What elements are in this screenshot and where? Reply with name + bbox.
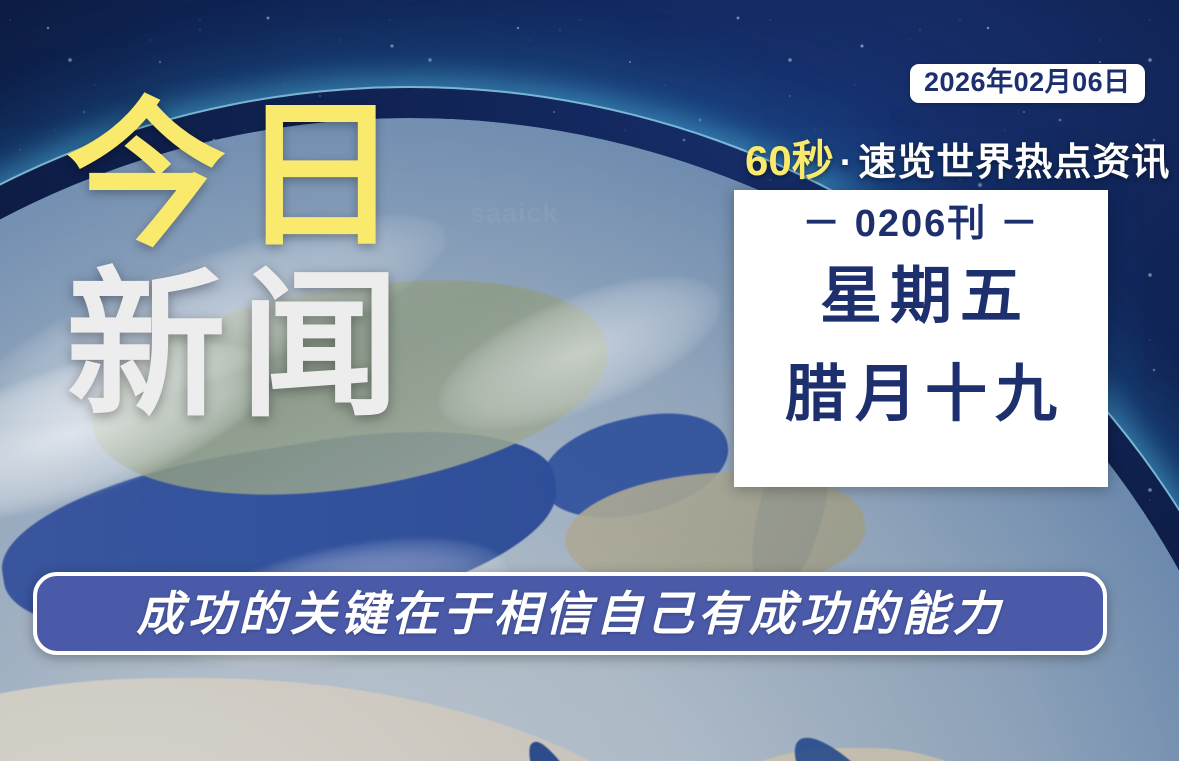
news-poster: saaick 2026年02月06日 今日 新闻 60秒·速览世界热点资讯 － … <box>0 0 1179 761</box>
quote-text: 成功的关键在于相信自己有成功的能力 <box>137 590 1004 637</box>
quote-banner: 成功的关键在于相信自己有成功的能力 <box>33 572 1107 655</box>
info-card: － 0206刊 － 星期五 腊月十九 <box>734 190 1108 487</box>
tagline-seconds: 60秒 <box>745 137 834 184</box>
page-title: 今日 新闻 <box>66 100 414 422</box>
tagline-subtitle: 速览世界热点资讯 <box>858 142 1170 184</box>
date-badge: 2026年02月06日 <box>910 64 1145 103</box>
lunar-date-label: 腊月十九 <box>777 364 1065 426</box>
tagline-separator: · <box>840 142 853 184</box>
issue-number: － 0206刊 － <box>802 204 1040 246</box>
tagline: 60秒·速览世界热点资讯 <box>745 140 1170 182</box>
title-line-today: 今日 <box>66 100 414 252</box>
weekday-label: 星期五 <box>812 266 1030 328</box>
title-line-news: 新闻 <box>66 270 414 422</box>
